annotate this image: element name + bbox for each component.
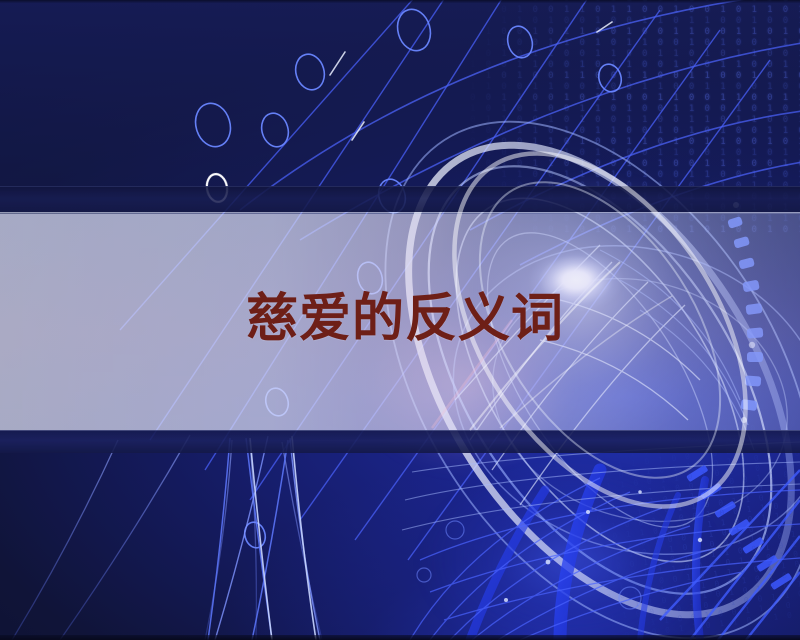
bottom-edge-shadow	[0, 635, 800, 640]
page-title: 慈爱的反义词	[246, 290, 564, 348]
banner-canvas: 0 1 0 0 1 1 0 1 0 0 1 1 0 0 1 0 1 1 0 0 …	[0, 0, 800, 640]
top-edge-shadow	[0, 0, 800, 3]
